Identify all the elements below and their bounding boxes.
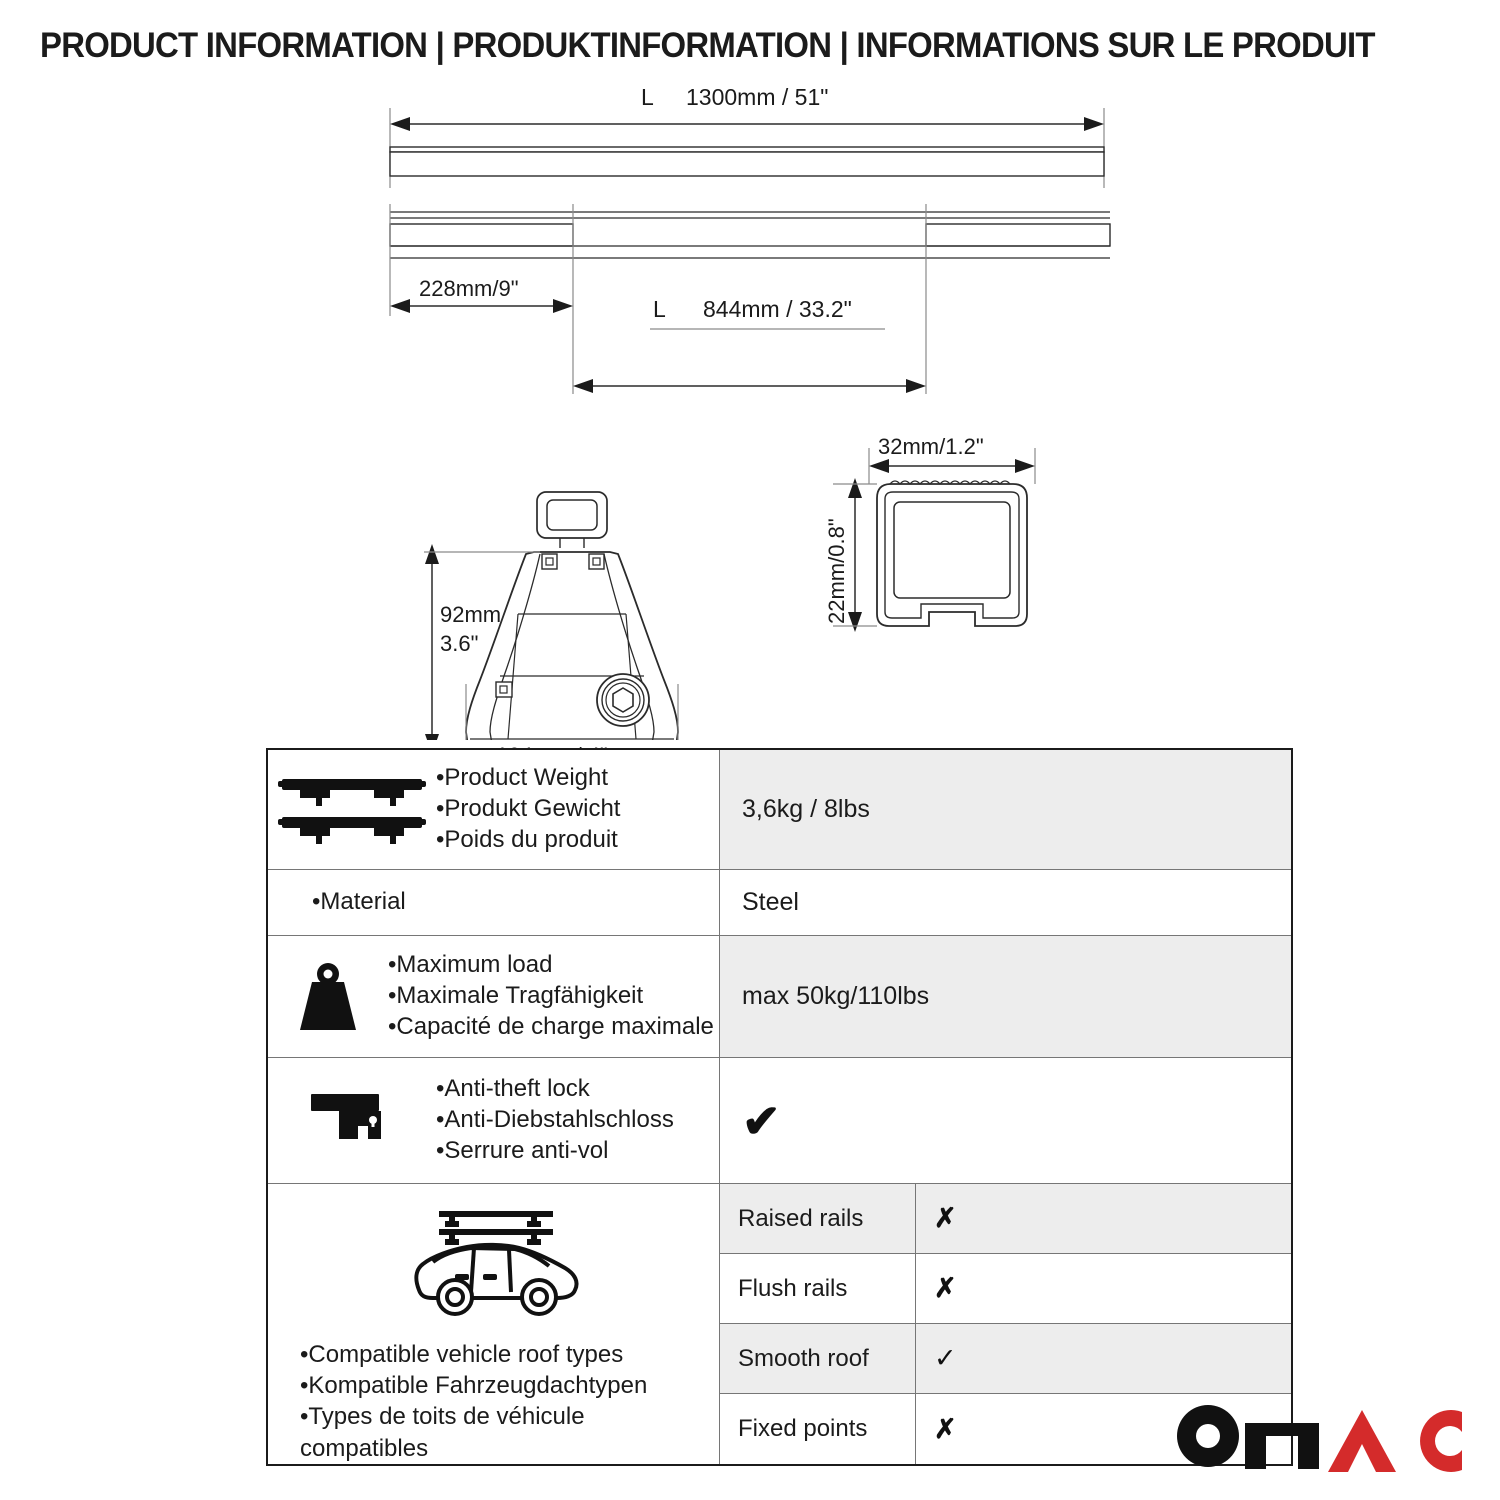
foot-height-in: 3.6" (440, 631, 478, 657)
logo-letter-m (1245, 1423, 1319, 1469)
table-row-compatibility: •Compatible vehicle roof types •Kompatib… (268, 1184, 1291, 1464)
spec-label-line: •Anti-theft lock (436, 1074, 674, 1105)
cross-icon: ✗ (934, 1205, 957, 1232)
spec-label-line: •Maximale Tragfähigkeit (388, 981, 714, 1012)
spec-label-text: •Product Weight •Produkt Gewicht •Poids … (436, 763, 620, 856)
spec-label-cell: •Material (268, 870, 720, 935)
compat-label-line: •Compatible vehicle roof types (300, 1339, 647, 1370)
roof-type-value: ✗ (916, 1184, 1291, 1253)
total-length-prefix: L (641, 84, 654, 111)
roof-type-row: Flush rails ✗ (720, 1254, 1291, 1324)
roof-type-name: Raised rails (720, 1184, 916, 1253)
car-with-roof-rack-icon (399, 1200, 589, 1323)
spec-label-line: •Produkt Gewicht (436, 794, 620, 825)
spec-label-line: •Anti-Diebstahlschloss (436, 1105, 674, 1136)
title-bar: PRODUCT INFORMATION | PRODUKTINFORMATION… (0, 0, 1500, 84)
spec-value-max-load: max 50kg/110lbs (720, 936, 1291, 1057)
compat-label-line: •Types de toits de véhicule compatibles (300, 1401, 630, 1463)
spec-label-line: •Poids du produit (436, 825, 620, 856)
span-prefix: L (653, 296, 666, 323)
spec-label-line: •Material (312, 887, 406, 918)
spec-label-line: •Serrure anti-vol (436, 1136, 674, 1167)
technical-drawing-area: L 1300mm / 51" 228mm/9" L 844mm / 33.2" … (0, 84, 1500, 740)
table-row: •Anti-theft lock •Anti-Diebstahlschloss … (268, 1058, 1291, 1184)
table-row: •Material Steel (268, 870, 1291, 936)
foot-offset-dim: 228mm/9" (419, 276, 519, 302)
omac-logo (1177, 1400, 1462, 1472)
crossbars-icon (268, 773, 436, 847)
roof-type-value: ✗ (916, 1254, 1291, 1323)
lock-icon (268, 1090, 436, 1152)
foot-height-mm: 92mm (440, 602, 501, 628)
profile-height-dim: 22mm/0.8" (824, 518, 850, 624)
table-row: •Maximum load •Maximale Tragfähigkeit •C… (268, 936, 1291, 1058)
spec-label-text: •Anti-theft lock •Anti-Diebstahlschloss … (436, 1074, 674, 1167)
spec-label-cell: •Maximum load •Maximale Tragfähigkeit •C… (268, 936, 720, 1057)
spec-value-product-weight: 3,6kg / 8lbs (720, 750, 1291, 869)
span-value: 844mm / 33.2" (703, 296, 852, 323)
spec-label-cell: •Anti-theft lock •Anti-Diebstahlschloss … (268, 1058, 720, 1183)
page-title: PRODUCT INFORMATION | PRODUKTINFORMATION… (40, 26, 1375, 66)
cross-icon: ✗ (934, 1275, 957, 1302)
product-specification-table: •Product Weight •Produkt Gewicht •Poids … (266, 748, 1293, 1466)
weight-icon (268, 960, 388, 1034)
check-icon: ✓ (934, 1345, 957, 1372)
compatibility-label-text: •Compatible vehicle roof types •Kompatib… (268, 1323, 647, 1464)
logo-letter-o (1177, 1405, 1239, 1467)
spec-label-line: •Capacité de charge maximale (388, 1012, 714, 1043)
spec-label-cell: •Product Weight •Produkt Gewicht •Poids … (268, 750, 720, 869)
roof-type-row: Smooth roof ✓ (720, 1324, 1291, 1394)
roof-type-value: ✓ (916, 1324, 1291, 1393)
logo-letter-c (1398, 1410, 1462, 1472)
spec-label-text: •Material (268, 887, 406, 918)
spec-label-line: •Product Weight (436, 763, 620, 794)
check-icon: ✔ (742, 1098, 781, 1144)
roof-type-name: Smooth roof (720, 1324, 916, 1393)
spec-value-material: Steel (720, 870, 1291, 935)
table-row: •Product Weight •Produkt Gewicht •Poids … (268, 750, 1291, 870)
logo-letter-a (1328, 1410, 1396, 1472)
spec-value-anti-theft: ✔ (720, 1058, 1291, 1183)
compat-label-line: •Kompatible Fahrzeugdachtypen (300, 1370, 647, 1401)
spec-label-text: •Maximum load •Maximale Tragfähigkeit •C… (388, 950, 714, 1043)
cross-icon: ✗ (934, 1416, 957, 1443)
roof-type-row: Raised rails ✗ (720, 1184, 1291, 1254)
spec-label-line: •Maximum load (388, 950, 714, 981)
profile-width-dim: 32mm/1.2" (878, 434, 984, 460)
roof-type-name: Fixed points (720, 1394, 916, 1464)
dimension-drawing-svg (0, 84, 1500, 740)
compatibility-label-cell: •Compatible vehicle roof types •Kompatib… (268, 1184, 720, 1464)
roof-type-name: Flush rails (720, 1254, 916, 1323)
total-length-value: 1300mm / 51" (686, 84, 828, 111)
